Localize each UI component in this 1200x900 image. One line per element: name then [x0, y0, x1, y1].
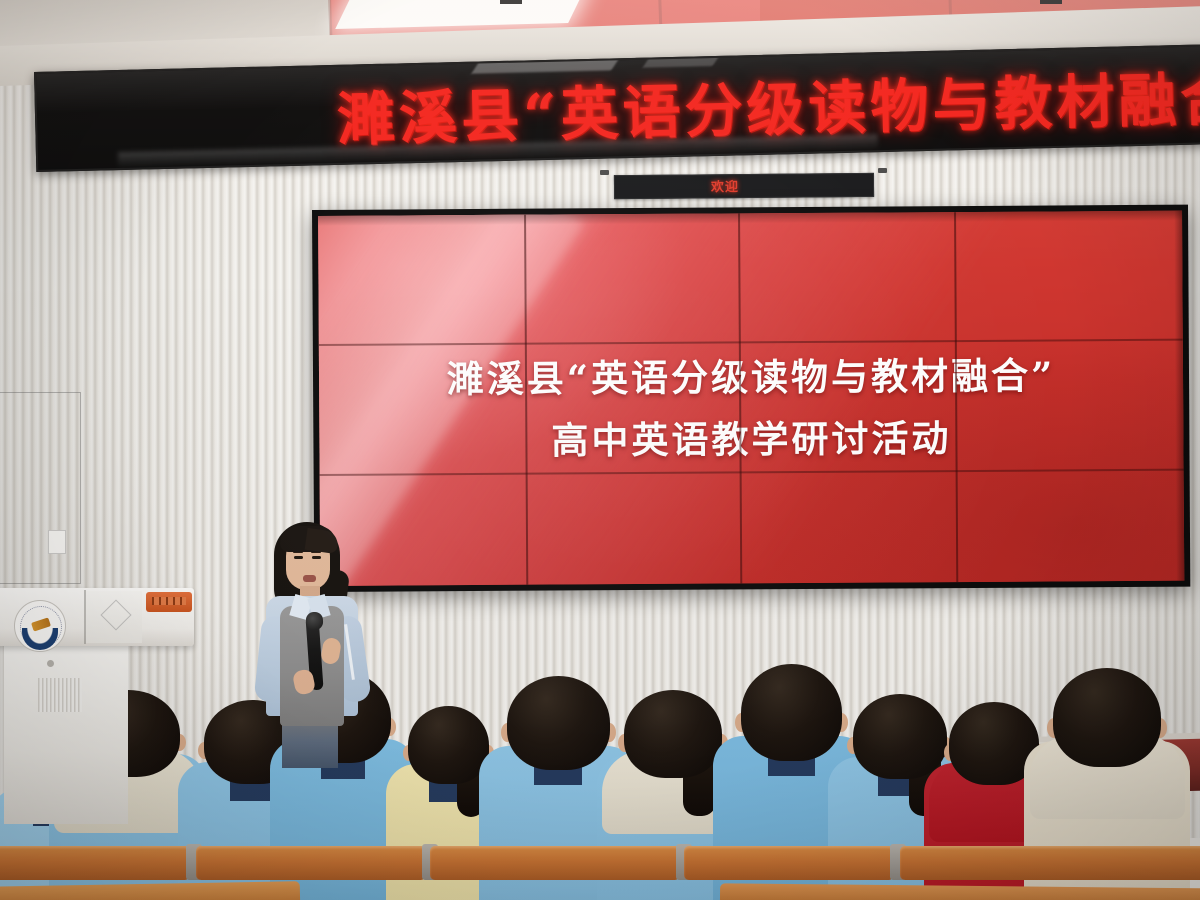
seat-back	[0, 846, 190, 880]
student-head	[741, 664, 842, 761]
presenter-mouth	[303, 575, 316, 582]
presenter-eye	[294, 556, 303, 559]
student-head	[408, 706, 489, 784]
auditorium-photo: 濉溪县“英语分级读物与教材融合” 欢迎 濉溪县“英语分级读物与教材融合” 高中英…	[0, 0, 1200, 900]
student-head	[624, 690, 722, 778]
lectern-knob[interactable]	[47, 660, 54, 667]
student-head	[1053, 668, 1161, 767]
audience	[0, 0, 1200, 900]
lectern-divider	[84, 590, 86, 644]
emblem-arc	[22, 628, 58, 650]
presenter-eye	[312, 556, 321, 559]
seat-back	[684, 846, 894, 880]
presenter	[250, 520, 380, 750]
presenter-fringe-sweep	[305, 528, 340, 554]
lectern-vent	[38, 678, 82, 712]
seat-back	[900, 846, 1200, 880]
school-emblem-icon	[14, 600, 66, 652]
seat-back	[430, 846, 680, 880]
lectern-orange-slots	[152, 597, 186, 605]
student-head	[853, 694, 947, 779]
seat-back	[196, 846, 426, 880]
lectern-body	[4, 644, 128, 824]
student-head	[507, 676, 610, 770]
